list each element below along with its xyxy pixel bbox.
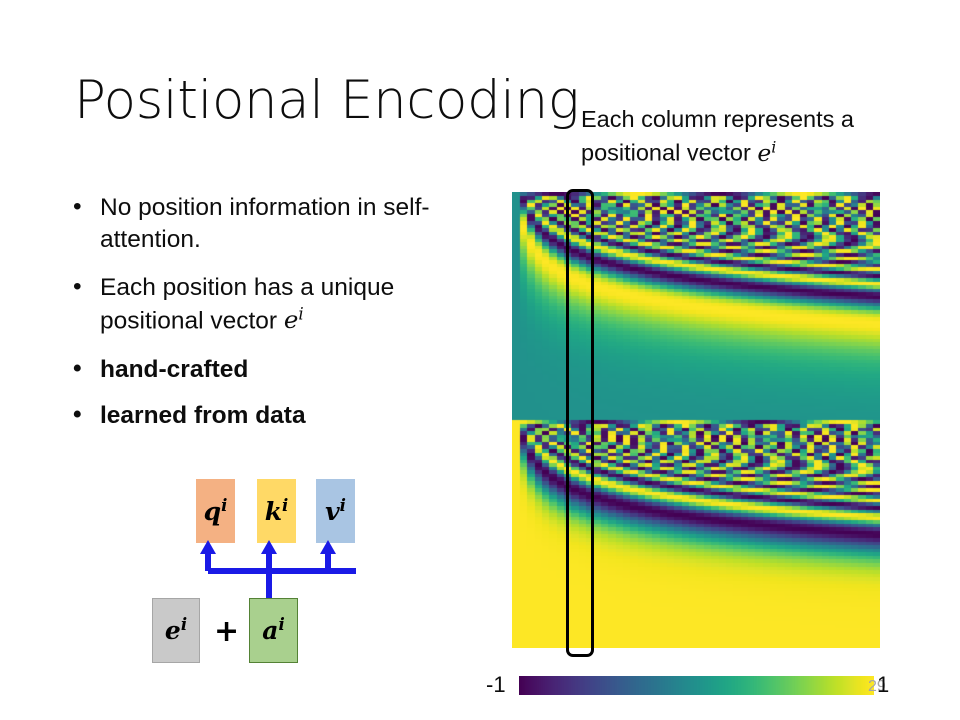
v-vector-box: vi [316,479,355,543]
q-vector-label: qi [204,496,228,526]
bullet-marker: • [73,191,82,223]
a-embedding-label: ai [262,615,284,645]
bullet-math-e: ei [284,305,304,334]
column-highlight-outline [566,189,594,657]
bullet-list: • No position information in self-attent… [68,192,488,445]
bullet-item-3: • learned from data [68,400,488,432]
bullet-marker: • [73,353,82,385]
arrow-connector-group [190,538,370,604]
bullet-marker: • [73,271,82,303]
v-vector-label: vi [325,496,346,526]
bullet-text: Each position has a unique positional ve… [100,274,394,334]
q-vector-box: qi [196,479,235,543]
bullet-text: hand-crafted [100,356,248,383]
bullet-text: learned from data [100,402,306,429]
colorbar [519,676,874,695]
page-title: Positional Encoding [74,70,579,131]
e-positional-label: ei [165,615,187,645]
slide-canvas: Positional Encoding Each column represen… [0,0,960,720]
a-embedding-box: ai [249,598,298,663]
heatmap-caption: Each column represents a positional vect… [581,103,951,170]
colorbar-min-label: -1 [486,672,506,698]
bullet-item-1: • Each position has a unique positional … [68,272,488,337]
bullet-text: No position information in self-attentio… [100,194,430,253]
plus-operator: + [214,614,239,649]
caption-line-2-prefix: positional vector [581,140,757,166]
bullet-item-2: • hand-crafted [68,354,488,386]
caption-line-1: Each column represents a [581,106,854,132]
arrowhead-q-icon [200,540,216,554]
colorbar-max-label: 1 [877,672,889,698]
bullet-marker: • [73,399,82,431]
e-positional-box: ei [152,598,200,663]
caption-math-e: ei [757,139,776,167]
k-vector-box: ki [257,479,296,543]
arrowhead-k-icon [261,540,277,554]
k-vector-label: ki [265,496,289,526]
arrowhead-v-icon [320,540,336,554]
bullet-item-0: • No position information in self-attent… [68,192,488,255]
